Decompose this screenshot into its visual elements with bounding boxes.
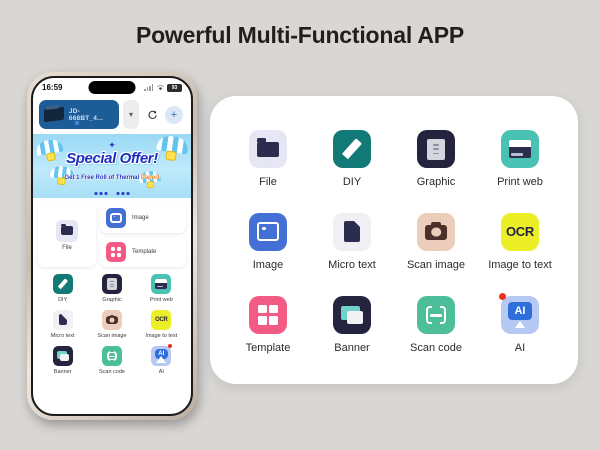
layered-rectangles-icon [53, 346, 73, 366]
template-grid-icon [249, 296, 287, 334]
refresh-glyph [147, 109, 158, 120]
signal-bars-icon [144, 84, 153, 91]
dynamic-island [89, 81, 136, 94]
phone-grid-item-scan-code[interactable]: Scan code [87, 346, 136, 375]
folder-icon [56, 220, 78, 242]
printer-icon [44, 107, 64, 122]
phone-grid-label: Banner [54, 369, 72, 375]
camera-icon [102, 310, 122, 330]
browser-window-icon [151, 274, 171, 294]
ocr-icon: OCR [501, 213, 539, 251]
phone-grid-item-ai[interactable]: AI AI [137, 346, 186, 375]
browser-window-icon [501, 130, 539, 168]
phone-grid-label: AI [159, 369, 164, 375]
phone-card-template[interactable]: Template [100, 237, 186, 267]
feature-item-scan-code[interactable]: Scan code [394, 283, 478, 366]
phone-grid-label: Micro text [51, 333, 75, 339]
image-icon [249, 213, 287, 251]
device-pill[interactable]: JD-668BT_4... [39, 100, 119, 129]
phone-card-file[interactable]: File [38, 203, 96, 267]
image-icon [106, 208, 126, 228]
phone-grid-label: DIY [58, 297, 67, 303]
scan-frame-icon [417, 296, 455, 334]
phone-card-column: Image Template [100, 203, 186, 267]
feature-label: Template [246, 342, 291, 354]
phone-status-bar: 16:59 93 [33, 78, 191, 97]
phone-card-file-label: File [62, 245, 72, 251]
promo-sub-part2: of Thermal [109, 175, 140, 181]
phone-grid-item-diy[interactable]: DIY [38, 274, 87, 303]
promo-title: Special Offer! [33, 150, 191, 167]
feature-label: Banner [334, 342, 369, 354]
feature-label: File [259, 176, 277, 188]
ai-badge-text: AI [508, 302, 532, 320]
feature-label: AI [515, 342, 525, 354]
camera-icon [417, 213, 455, 251]
feature-item-graphic[interactable]: Graphic [394, 118, 478, 201]
promo-subtitle: Get 1 Free Roll of Thermal Paper! [33, 175, 191, 181]
small-document-icon [333, 213, 371, 251]
status-time: 16:59 [42, 83, 62, 92]
folder-icon [249, 130, 287, 168]
page-title: Powerful Multi-Functional APP [0, 22, 600, 49]
phone-card-template-label: Template [132, 249, 156, 255]
layered-rectangles-icon [333, 296, 371, 334]
feature-panel: File DIY Graphic Print web Image Micro t… [210, 96, 578, 384]
status-indicators: 93 [144, 84, 182, 92]
feature-item-image[interactable]: Image [226, 201, 310, 284]
notification-dot [168, 344, 172, 348]
device-selector-row: JD-668BT_4... ▾ + [33, 97, 191, 134]
feature-item-file[interactable]: File [226, 118, 310, 201]
ai-badge-icon: AI [151, 346, 171, 366]
feature-item-image-to-text[interactable]: OCR Image to text [478, 201, 562, 284]
document-lines-icon [102, 274, 122, 294]
template-grid-icon [106, 242, 126, 262]
phone-grid-item-micro-text[interactable]: Micro text [38, 310, 87, 339]
feature-item-print-web[interactable]: Print web [478, 118, 562, 201]
phone-grid-item-graphic[interactable]: Graphic [87, 274, 136, 303]
feature-item-micro-text[interactable]: Micro text [310, 201, 394, 284]
ocr-text: OCR [155, 317, 167, 323]
ai-badge-icon: AI [501, 296, 539, 334]
feature-item-diy[interactable]: DIY [310, 118, 394, 201]
phone-mockup: 16:59 93 JD-668BT_4... ▾ [27, 72, 197, 420]
feature-item-scan-image[interactable]: Scan image [394, 201, 478, 284]
phone-grid-label: Print web [150, 297, 173, 303]
promo-sub-part3: Paper! [141, 175, 160, 181]
document-lines-icon [417, 130, 455, 168]
phone-top-cards: File Image Template [33, 198, 191, 270]
phone-screen: 16:59 93 JD-668BT_4... ▾ [31, 76, 193, 416]
feature-item-ai[interactable]: AI AI [478, 283, 562, 366]
phone-grid-item-print-web[interactable]: Print web [137, 274, 186, 303]
feature-label: Image [253, 259, 284, 271]
phone-grid-label: Scan image [97, 333, 126, 339]
ocr-icon: OCR [151, 310, 171, 330]
scan-frame-icon [102, 346, 122, 366]
phone-grid-label: Graphic [102, 297, 121, 303]
phone-feature-grid: DIY Graphic Print web Micro text Scan im… [33, 270, 191, 380]
pencil-icon [53, 274, 73, 294]
feature-item-template[interactable]: Template [226, 283, 310, 366]
phone-grid-item-scan-image[interactable]: Scan image [87, 310, 136, 339]
phone-grid-item-banner[interactable]: Banner [38, 346, 87, 375]
feature-label: Image to text [488, 259, 552, 271]
feature-label: Scan code [410, 342, 462, 354]
phone-frame: 16:59 93 JD-668BT_4... ▾ [27, 72, 197, 420]
promo-sub-part1: Get 1 Free Roll [64, 175, 106, 181]
phone-grid-label: Image to text [145, 333, 177, 339]
banner-dots [95, 192, 130, 195]
ocr-text: OCR [506, 224, 534, 239]
device-name: JD-668BT_4... [69, 108, 114, 122]
feature-label: Graphic [417, 176, 456, 188]
phone-grid-label: Scan code [99, 369, 125, 375]
wifi-icon [156, 84, 165, 91]
feature-label: Scan image [407, 259, 465, 271]
feature-label: Print web [497, 176, 543, 188]
phone-card-image-label: Image [132, 215, 149, 221]
promo-banner[interactable]: ✦ Special Offer! Get 1 Free Roll of Ther… [33, 134, 191, 198]
phone-grid-item-image-to-text[interactable]: OCR Image to text [137, 310, 186, 339]
feature-label: Micro text [328, 259, 376, 271]
device-status-dot [75, 121, 79, 125]
feature-grid: File DIY Graphic Print web Image Micro t… [226, 118, 562, 366]
notification-dot [499, 293, 506, 300]
phone-card-image[interactable]: Image [100, 203, 186, 233]
feature-item-banner[interactable]: Banner [310, 283, 394, 366]
pencil-icon [333, 130, 371, 168]
small-document-icon [53, 310, 73, 330]
feature-label: DIY [343, 176, 361, 188]
battery-icon: 93 [167, 84, 182, 92]
plus-icon[interactable]: + [165, 106, 183, 124]
refresh-icon[interactable] [143, 106, 161, 124]
chevron-down-icon[interactable]: ▾ [123, 100, 139, 129]
